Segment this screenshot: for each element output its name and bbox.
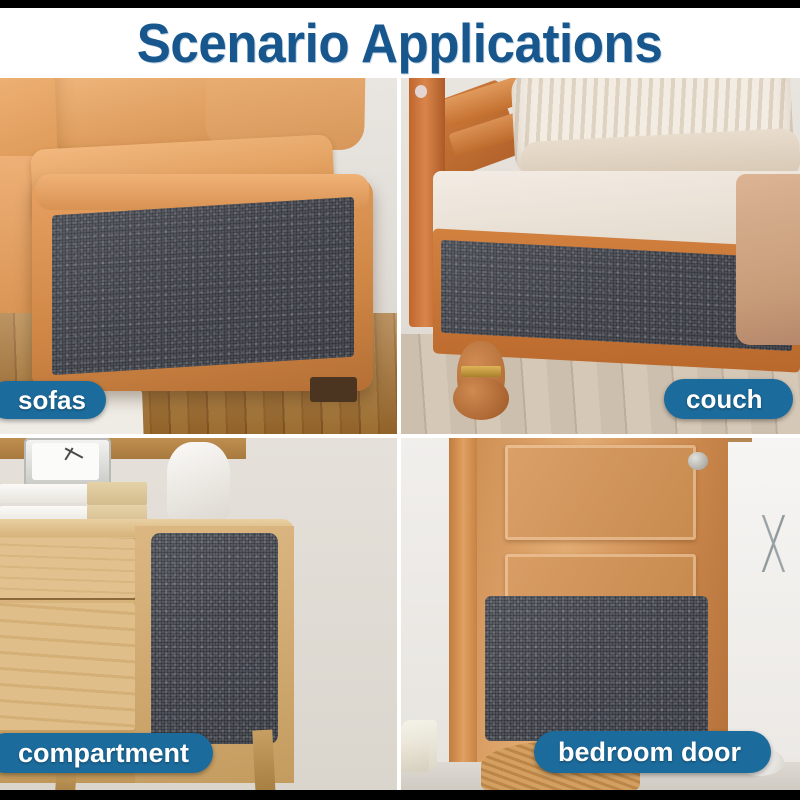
- door-panel-upper: [505, 445, 697, 540]
- label-pill-compartment: compartment: [0, 733, 213, 773]
- letterbox-bar-top: [0, 0, 800, 8]
- label-text-compartment: compartment: [18, 738, 189, 769]
- label-text-sofas: sofas: [18, 385, 86, 416]
- label-pill-bedroom-door: bedroom door: [534, 731, 771, 773]
- brass-ring: [461, 366, 501, 377]
- scratch-mat-on-sofa: [52, 197, 354, 376]
- door-lock[interactable]: [688, 452, 708, 470]
- book-top-pages: [87, 482, 147, 505]
- draped-blanket: [736, 174, 800, 345]
- product-scenario-infographic: Scenario Applications: [0, 0, 800, 800]
- scenario-grid: [0, 78, 800, 790]
- nightstand-leg-right: [252, 730, 275, 790]
- nightstand-drawer-lower: [0, 603, 137, 730]
- page-title: Scenario Applications: [137, 16, 663, 71]
- scratch-mat-on-nightstand: [151, 533, 278, 744]
- vase: [167, 442, 231, 519]
- bed-leg-ball: [453, 377, 509, 420]
- letterbox-bar-bottom: [0, 790, 800, 800]
- title-band: Scenario Applications: [0, 8, 800, 78]
- nightstand-drawer-upper: [0, 538, 137, 600]
- bed-post-knob: [415, 85, 427, 97]
- label-text-couch: couch: [686, 384, 763, 415]
- shoe-right: [401, 741, 429, 773]
- decor-branch: [744, 515, 800, 571]
- scratch-mat-on-door: [485, 596, 708, 740]
- sofa-foot: [310, 377, 358, 402]
- label-pill-sofas: sofas: [0, 381, 106, 419]
- label-text-bedroom-door: bedroom door: [558, 737, 741, 768]
- label-pill-couch: couch: [664, 379, 793, 419]
